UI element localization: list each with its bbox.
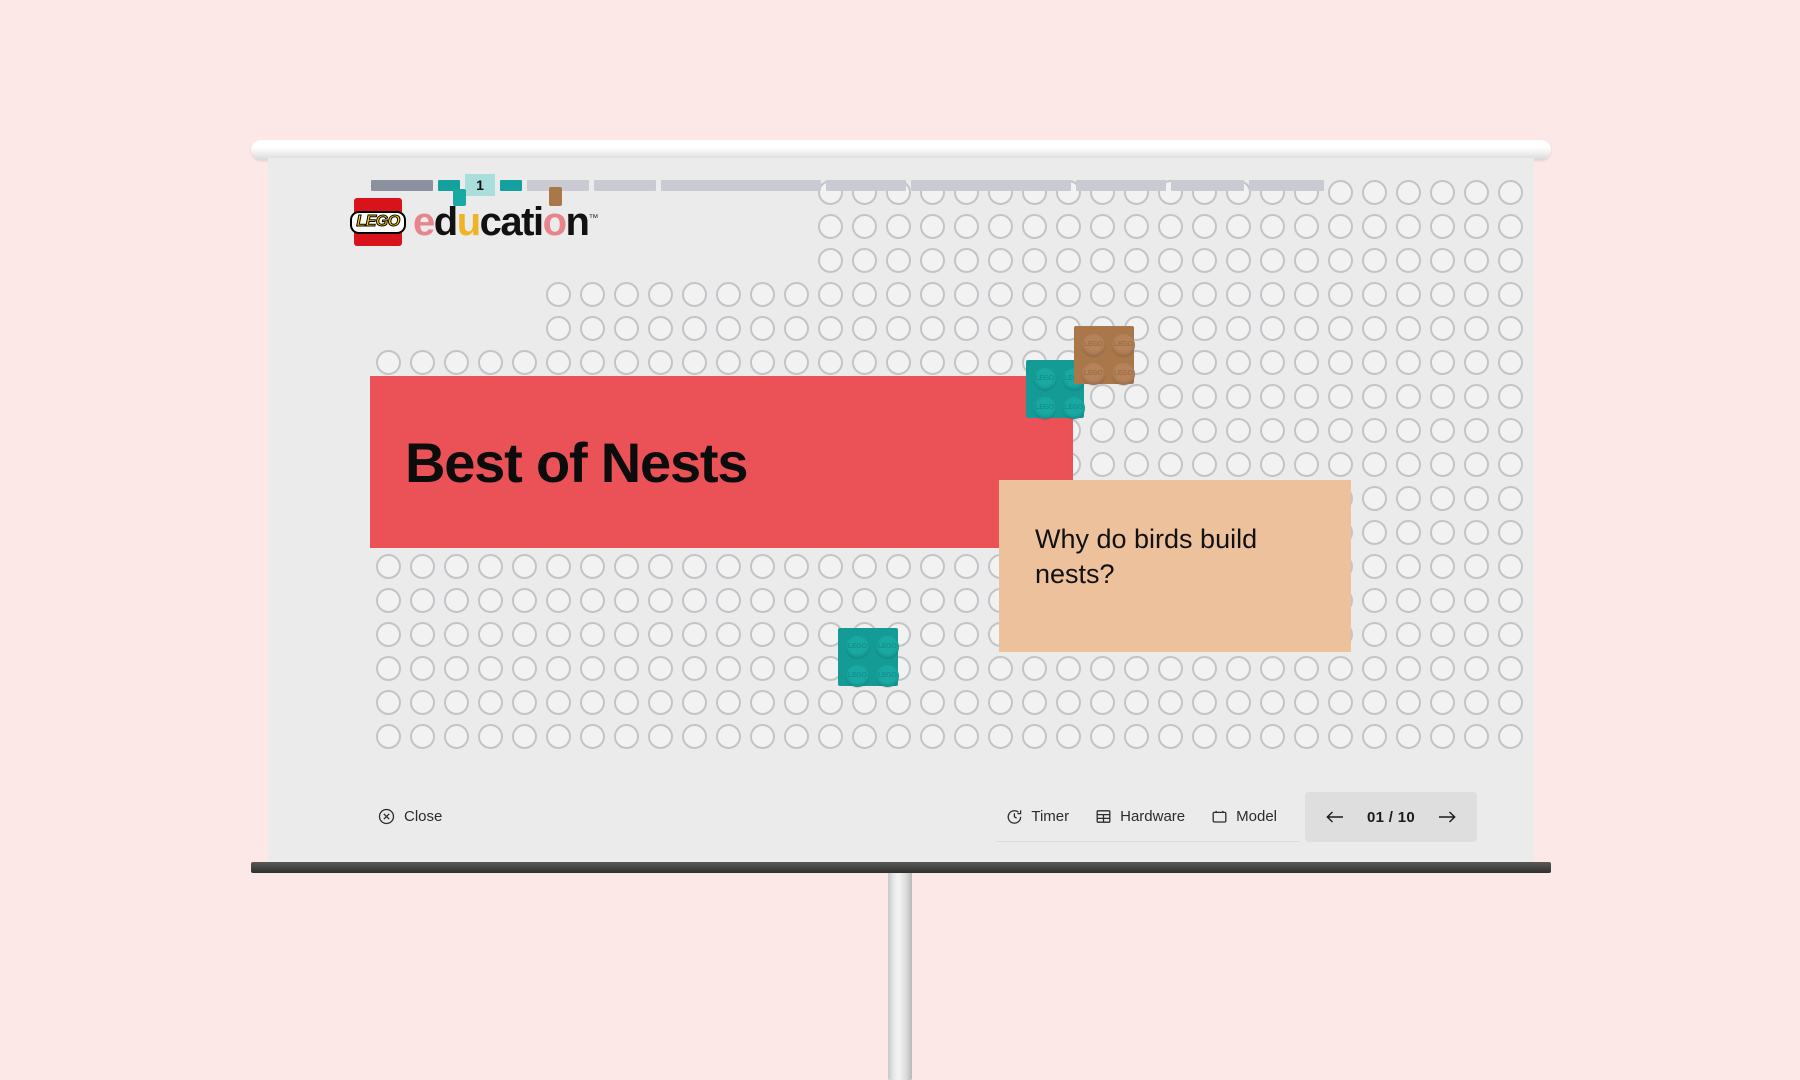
stud (1498, 486, 1523, 511)
stud (1192, 214, 1217, 239)
stud (512, 622, 537, 647)
progress-current-chapter[interactable]: 1 (465, 174, 495, 196)
stud (614, 724, 639, 749)
stud (1158, 656, 1183, 681)
close-button[interactable]: Close (378, 808, 442, 825)
stud (1464, 486, 1489, 511)
stud (1362, 384, 1387, 409)
stud (1056, 282, 1081, 307)
stud (648, 656, 673, 681)
stud (444, 690, 469, 715)
stud (784, 350, 809, 375)
stud (988, 248, 1013, 273)
stud (1498, 384, 1523, 409)
easel-top-rail (251, 140, 1551, 160)
stud (1294, 656, 1319, 681)
stud (784, 724, 809, 749)
stud (546, 316, 571, 341)
progress-segment[interactable] (594, 180, 656, 191)
lego-wordmark: LEGO (350, 211, 405, 234)
stud (1498, 588, 1523, 613)
stud (1362, 690, 1387, 715)
stud (1260, 452, 1285, 477)
close-icon (378, 808, 395, 825)
stud (1362, 486, 1387, 511)
stud (648, 690, 673, 715)
stud (648, 588, 673, 613)
stud (580, 282, 605, 307)
stud (988, 316, 1013, 341)
logo-letter: d (434, 202, 457, 242)
stud (1090, 248, 1115, 273)
progress-segment[interactable] (371, 180, 433, 191)
timer-label: Timer (1031, 808, 1069, 825)
logo-letter: u (457, 202, 480, 242)
stud (852, 724, 877, 749)
logo-letter: c (480, 202, 501, 242)
brick-stud: LEGO (846, 665, 869, 687)
stud (1328, 384, 1353, 409)
stud (1362, 520, 1387, 545)
stud (580, 316, 605, 341)
stud (1396, 452, 1421, 477)
stud (376, 588, 401, 613)
stud (1124, 214, 1149, 239)
stud (614, 588, 639, 613)
stud (1056, 656, 1081, 681)
stud (1396, 418, 1421, 443)
stud (1430, 656, 1455, 681)
stud (1260, 214, 1285, 239)
lego-education-logo: LEGO education™ (354, 198, 598, 246)
stud (1328, 316, 1353, 341)
stud (1260, 656, 1285, 681)
brick-stud: LEGO (846, 636, 869, 658)
stud (1396, 350, 1421, 375)
stud (546, 724, 571, 749)
stud (1124, 248, 1149, 273)
logo-brick-accent (549, 187, 562, 206)
stud (1498, 554, 1523, 579)
bottom-toolbar: Close Timer (268, 778, 1534, 862)
stud (750, 724, 775, 749)
stud (1498, 248, 1523, 273)
stud (1226, 690, 1251, 715)
stud (750, 282, 775, 307)
stud (716, 316, 741, 341)
stud (1464, 350, 1489, 375)
hardware-label: Hardware (1120, 808, 1185, 825)
stud (920, 282, 945, 307)
stud (1022, 282, 1047, 307)
stud (1226, 282, 1251, 307)
stud (1158, 384, 1183, 409)
logo-letter: n (566, 202, 589, 242)
stud (1158, 316, 1183, 341)
stud (648, 316, 673, 341)
stud (1192, 282, 1217, 307)
stud (954, 248, 979, 273)
page-title: Best of Nests (370, 430, 747, 495)
stud (716, 690, 741, 715)
stud (1090, 282, 1115, 307)
logo-letter: e (413, 202, 434, 242)
stud (580, 588, 605, 613)
stud (1430, 214, 1455, 239)
stud (750, 588, 775, 613)
stud (478, 350, 503, 375)
stud (1498, 656, 1523, 681)
stud (580, 656, 605, 681)
stud (1226, 384, 1251, 409)
stud (546, 554, 571, 579)
stud (1158, 350, 1183, 375)
progress-segment[interactable] (661, 180, 821, 191)
stud (410, 622, 435, 647)
stud (376, 622, 401, 647)
stud (1022, 724, 1047, 749)
tool-group: Timer Hardware (996, 792, 1299, 842)
stud (614, 316, 639, 341)
chapter-progress-bar[interactable]: 1 (371, 174, 1529, 196)
stud (954, 622, 979, 647)
stud (852, 350, 877, 375)
stud (954, 214, 979, 239)
stud (546, 690, 571, 715)
stud (716, 724, 741, 749)
stud (1328, 656, 1353, 681)
stud (1124, 656, 1149, 681)
stud (1260, 384, 1285, 409)
stud (444, 350, 469, 375)
stud (1430, 248, 1455, 273)
stud (1464, 282, 1489, 307)
stud (444, 588, 469, 613)
stud (818, 248, 843, 273)
stud (716, 350, 741, 375)
stud (1056, 248, 1081, 273)
stud (920, 724, 945, 749)
stud (954, 656, 979, 681)
stud (954, 282, 979, 307)
timer-button[interactable]: Timer (1006, 808, 1069, 825)
stud (750, 350, 775, 375)
lego-logo-mark: LEGO (354, 198, 402, 246)
stud (1430, 554, 1455, 579)
stud (784, 282, 809, 307)
stud (1226, 248, 1251, 273)
stud (682, 350, 707, 375)
stud (1396, 622, 1421, 647)
presentation-board: 1 LEGO education™ Best of Nests LEGOLEGO… (268, 158, 1534, 862)
slide-title-banner: Best of Nests (370, 376, 1073, 548)
stud (1362, 316, 1387, 341)
stud (1396, 690, 1421, 715)
stud (1260, 724, 1285, 749)
stud (1430, 486, 1455, 511)
stud (1158, 282, 1183, 307)
stud (444, 554, 469, 579)
stud (682, 622, 707, 647)
education-wordmark: education™ (413, 202, 598, 242)
stud (1294, 418, 1319, 443)
stud (852, 690, 877, 715)
stud (920, 554, 945, 579)
stud (682, 656, 707, 681)
stud (1464, 690, 1489, 715)
stud (886, 248, 911, 273)
stud (1328, 418, 1353, 443)
stud (1294, 214, 1319, 239)
stud (512, 554, 537, 579)
stud (1498, 452, 1523, 477)
stud (1362, 418, 1387, 443)
stud (512, 588, 537, 613)
stud (1022, 214, 1047, 239)
progress-segment[interactable] (826, 180, 906, 191)
stud (1430, 724, 1455, 749)
stud (1090, 418, 1115, 443)
stud (886, 282, 911, 307)
stud (750, 656, 775, 681)
stud (1192, 656, 1217, 681)
stud (750, 622, 775, 647)
brick-brown: LEGOLEGOLEGOLEGO (1074, 326, 1134, 384)
stud (1294, 690, 1319, 715)
stud (1362, 724, 1387, 749)
stud (988, 690, 1013, 715)
stud (546, 350, 571, 375)
stud (1362, 214, 1387, 239)
easel-bottom-rail (251, 862, 1551, 873)
stud (784, 690, 809, 715)
stud (682, 554, 707, 579)
stud (1328, 248, 1353, 273)
stud (1158, 452, 1183, 477)
stud (886, 554, 911, 579)
close-label: Close (404, 808, 442, 825)
stud (1226, 214, 1251, 239)
stud (716, 588, 741, 613)
stud (818, 588, 843, 613)
stud (954, 350, 979, 375)
brick-stud: LEGO (1034, 368, 1056, 390)
brick-stud: LEGO (1082, 363, 1105, 385)
stud (1362, 554, 1387, 579)
arrow-left-icon[interactable] (1325, 809, 1345, 825)
stud (1396, 554, 1421, 579)
stud (1464, 248, 1489, 273)
stud (444, 622, 469, 647)
arrow-right-icon[interactable] (1437, 809, 1457, 825)
stud (546, 656, 571, 681)
toolbar-right-group: Timer Hardware (996, 792, 1477, 842)
stud (1464, 622, 1489, 647)
stud (1192, 316, 1217, 341)
model-button[interactable]: Model (1211, 808, 1277, 825)
stud (410, 656, 435, 681)
progress-segment[interactable] (1171, 180, 1244, 191)
stud (1260, 350, 1285, 375)
stud (716, 656, 741, 681)
stud (1328, 350, 1353, 375)
stud (1464, 554, 1489, 579)
stud (1362, 622, 1387, 647)
stud (1158, 418, 1183, 443)
stud (886, 588, 911, 613)
hardware-button[interactable]: Hardware (1095, 808, 1185, 825)
stud (1192, 418, 1217, 443)
stud (1192, 724, 1217, 749)
stud (648, 724, 673, 749)
brick-stud: LEGO (1063, 397, 1085, 419)
stud (920, 622, 945, 647)
stud (920, 656, 945, 681)
brick-stud: LEGO (1112, 363, 1135, 385)
stud (988, 656, 1013, 681)
stud (682, 724, 707, 749)
stud (1430, 520, 1455, 545)
stud (1430, 282, 1455, 307)
stud (954, 690, 979, 715)
stud (1430, 350, 1455, 375)
stud (1022, 316, 1047, 341)
stud (1022, 656, 1047, 681)
stud (1464, 316, 1489, 341)
brick-stud: LEGO (876, 665, 899, 687)
stud (1498, 724, 1523, 749)
brick-stud: LEGO (1034, 397, 1056, 419)
stud (886, 724, 911, 749)
stud (1396, 214, 1421, 239)
screenshot-root: 1 LEGO education™ Best of Nests LEGOLEGO… (0, 0, 1800, 1080)
stud (1362, 248, 1387, 273)
stud (886, 214, 911, 239)
stud (1430, 316, 1455, 341)
stud (1430, 622, 1455, 647)
question-text: Why do birds build nests? (1035, 522, 1315, 591)
stud (376, 350, 401, 375)
stud (1056, 724, 1081, 749)
stud (1090, 690, 1115, 715)
stud (1260, 248, 1285, 273)
logo-brick-accent (453, 189, 466, 206)
stud (1226, 656, 1251, 681)
stud (1396, 588, 1421, 613)
stud (1090, 656, 1115, 681)
stud (1226, 350, 1251, 375)
brick-teal-lower: LEGOLEGOLEGOLEGO (838, 628, 898, 686)
stud (1396, 316, 1421, 341)
stud (1498, 316, 1523, 341)
stud (1396, 248, 1421, 273)
stud (818, 690, 843, 715)
stud (1124, 690, 1149, 715)
stud (1328, 452, 1353, 477)
stud (1328, 690, 1353, 715)
model-label: Model (1236, 808, 1277, 825)
stud (444, 656, 469, 681)
logo-letter: o (543, 202, 566, 242)
stud (818, 214, 843, 239)
progress-segment[interactable] (1076, 180, 1166, 191)
stud (614, 622, 639, 647)
stud (1498, 690, 1523, 715)
stud (988, 282, 1013, 307)
stud (1294, 282, 1319, 307)
stud (1430, 418, 1455, 443)
stud (1464, 724, 1489, 749)
stud (1294, 384, 1319, 409)
stud (444, 724, 469, 749)
stud (1124, 724, 1149, 749)
stud (818, 316, 843, 341)
stud (1498, 622, 1523, 647)
stud (1294, 248, 1319, 273)
stud (1124, 418, 1149, 443)
stud (410, 350, 435, 375)
progress-segment[interactable] (1249, 180, 1324, 191)
stud (1464, 214, 1489, 239)
progress-segment[interactable] (500, 180, 522, 191)
brick-stud: LEGO (876, 636, 899, 658)
stud (546, 282, 571, 307)
stud (478, 622, 503, 647)
stud (1022, 248, 1047, 273)
stud (1090, 214, 1115, 239)
stud (478, 554, 503, 579)
stud (1124, 384, 1149, 409)
stud (546, 588, 571, 613)
stud (580, 724, 605, 749)
stud (784, 316, 809, 341)
stud (1396, 384, 1421, 409)
stud (1498, 418, 1523, 443)
stud (818, 350, 843, 375)
stud (784, 656, 809, 681)
stud (1498, 282, 1523, 307)
stud (716, 622, 741, 647)
hardware-icon (1095, 808, 1112, 825)
stud (750, 690, 775, 715)
stud (1362, 282, 1387, 307)
stud (682, 316, 707, 341)
stud (1226, 724, 1251, 749)
stud (376, 690, 401, 715)
stud (648, 350, 673, 375)
stud (478, 656, 503, 681)
stud (1362, 452, 1387, 477)
stud (1396, 520, 1421, 545)
stud (410, 554, 435, 579)
stud (648, 282, 673, 307)
stud (954, 588, 979, 613)
stud (818, 724, 843, 749)
stud (1192, 248, 1217, 273)
stud (1328, 214, 1353, 239)
stud (1192, 350, 1217, 375)
stud (750, 316, 775, 341)
stud (1192, 690, 1217, 715)
stud (954, 724, 979, 749)
progress-segment[interactable] (911, 180, 1071, 191)
stud (1192, 384, 1217, 409)
logo-letter: i (533, 202, 543, 242)
stud (818, 554, 843, 579)
stud (410, 724, 435, 749)
stud (852, 248, 877, 273)
stud (512, 724, 537, 749)
